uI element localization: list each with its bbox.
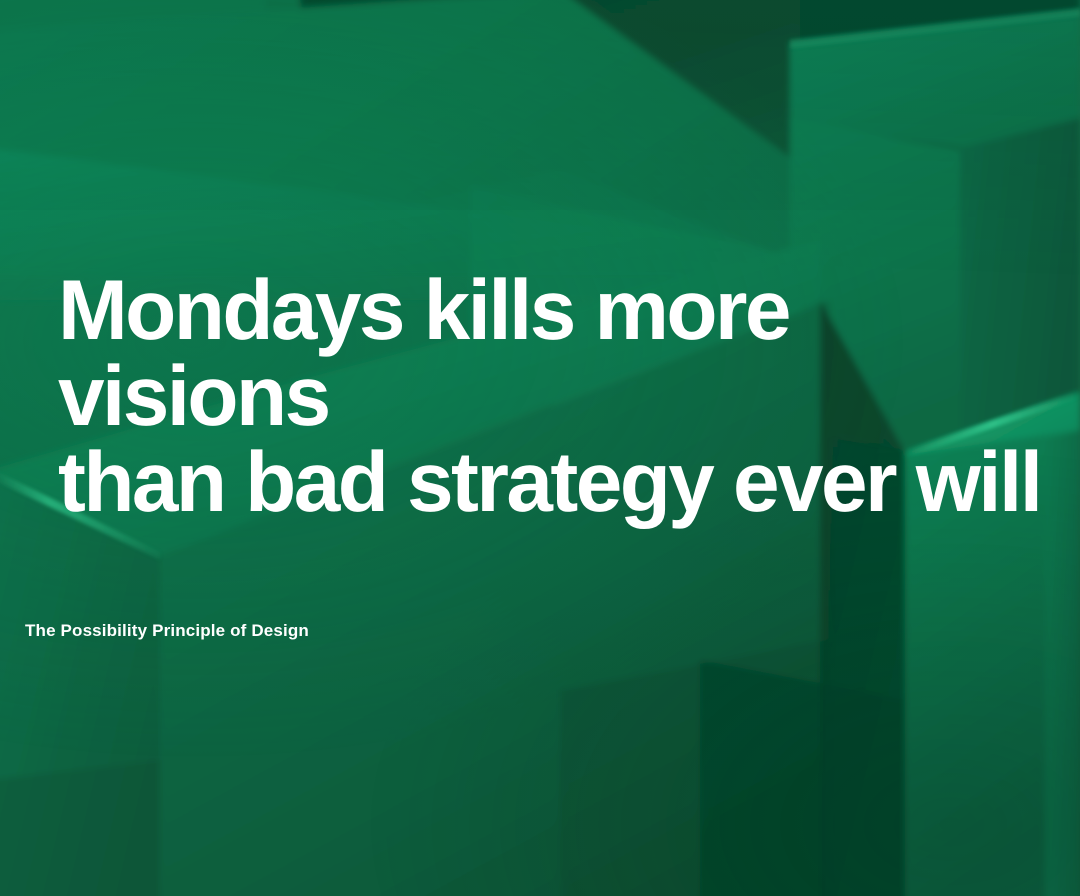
text-layer: Mondays kills more visions than bad stra… xyxy=(0,0,1080,896)
page-title: Mondays kills more visions than bad stra… xyxy=(58,268,1053,526)
subtitle: The Possibility Principle of Design xyxy=(25,620,309,642)
poster-canvas: Mondays kills more visions than bad stra… xyxy=(0,0,1080,896)
